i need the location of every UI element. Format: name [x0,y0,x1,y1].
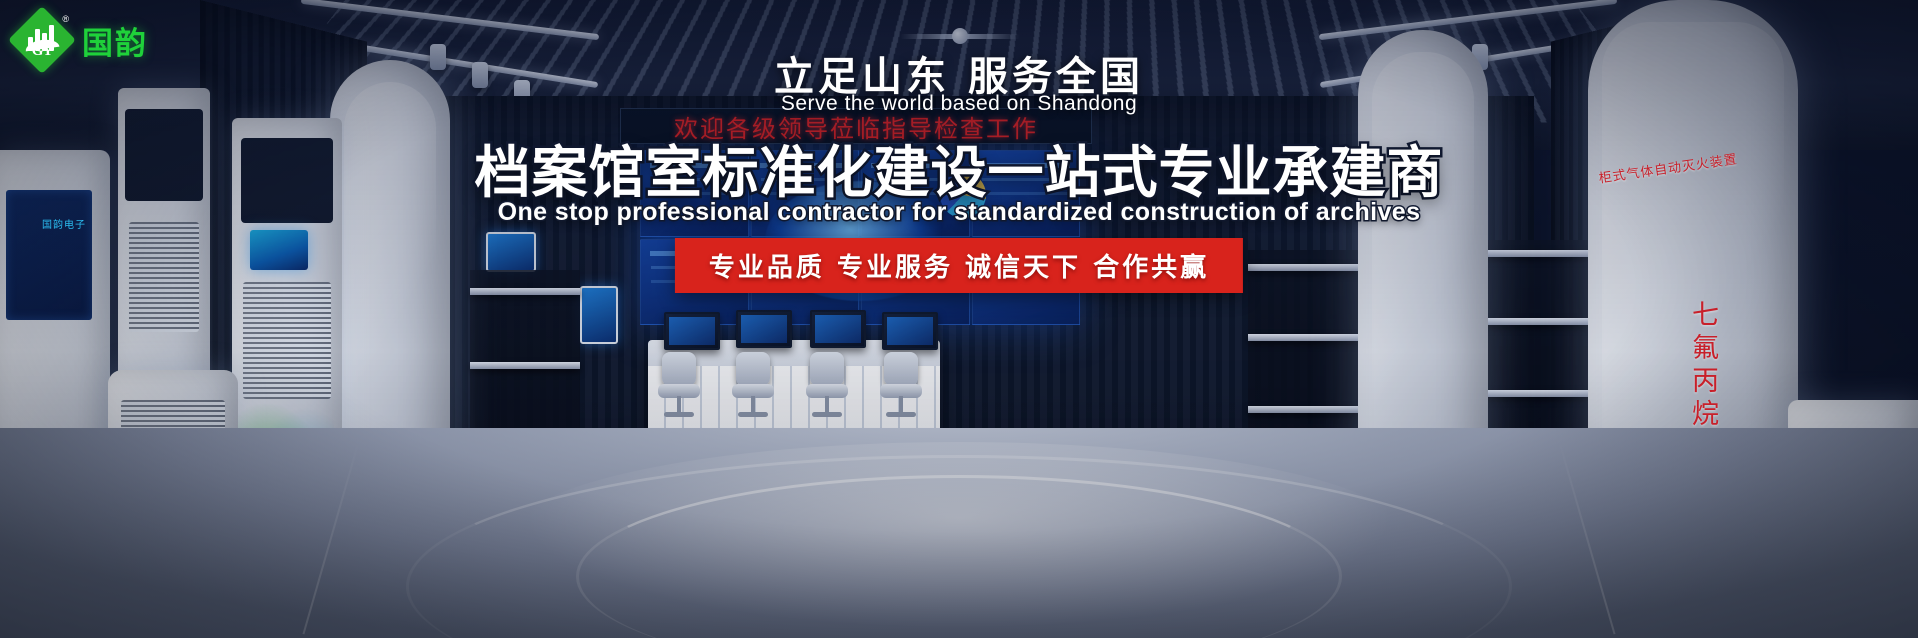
fire-suppression-agent-label: 七氟丙烷 [1683,300,1722,432]
headline-english: One stop professional contractor for sta… [0,198,1918,227]
slogan-banner: 专业品质 专业服务 诚信天下 合作共赢 [675,238,1243,293]
equipment-brand-label: 国韵电子 [42,216,86,231]
registered-trademark-icon: ® [62,14,69,24]
tagline-english: Serve the world based on Shandong [0,92,1918,116]
slogan-text: 专业品质 专业服务 诚信天下 合作共赢 [709,253,1209,283]
hero-banner: 欢迎各级领导莅临指导检查工作 [0,0,1918,638]
marketing-copy-layer: GY ® 国韵 立足山东 服务全国 Serve the world based … [0,0,1918,638]
